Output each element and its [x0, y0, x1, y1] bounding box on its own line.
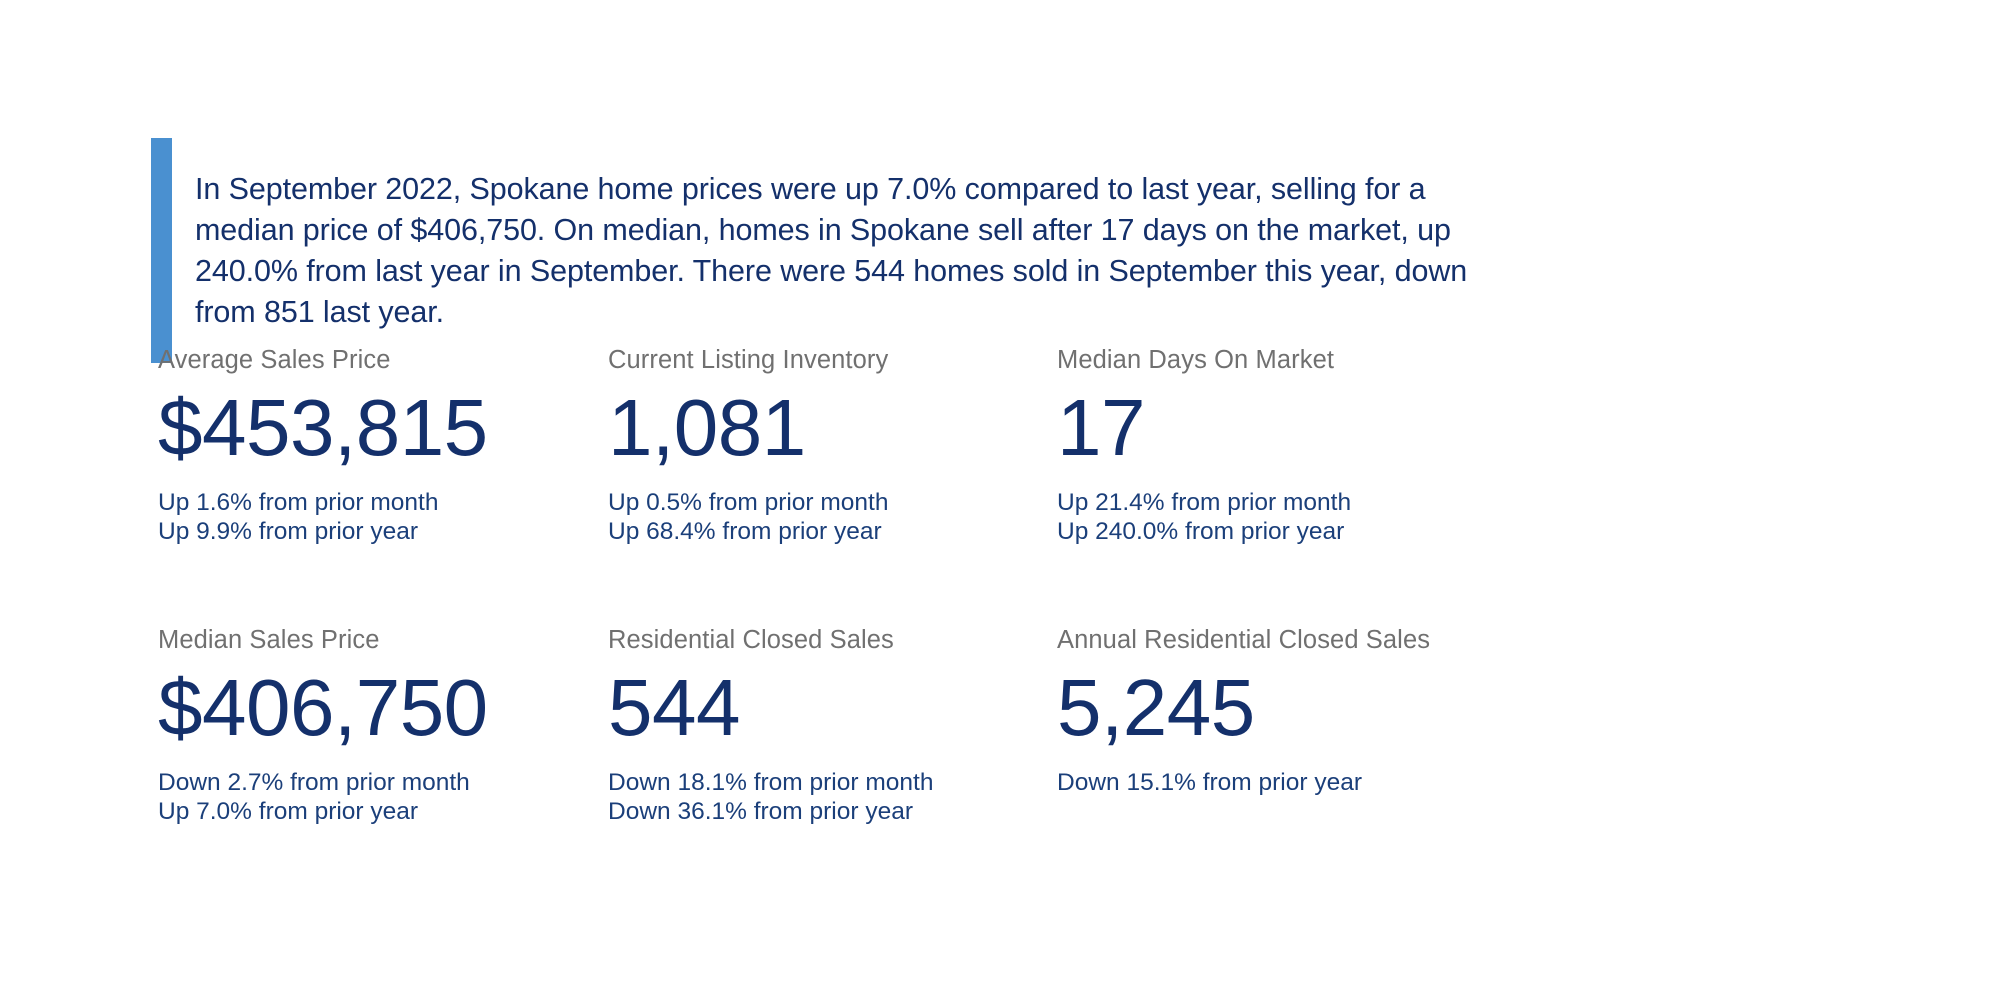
stat-deltas: Down 15.1% from prior year [1057, 769, 1468, 798]
stat-delta-year: Up 9.9% from prior year [158, 518, 628, 547]
stat-row: Median Sales Price $406,750 Down 2.7% fr… [158, 625, 1468, 905]
stat-block-residential-closed-sales: Residential Closed Sales 544 Down 18.1% … [608, 625, 1078, 826]
stat-row: Average Sales Price $453,815 Up 1.6% fro… [158, 345, 1468, 625]
stat-value: 544 [608, 661, 1078, 755]
stat-delta-month: Up 21.4% from prior month [1057, 489, 1468, 518]
summary-paragraph: In September 2022, Spokane home prices w… [195, 169, 1471, 333]
stat-delta-month: Down 18.1% from prior month [608, 769, 1078, 798]
stat-block-current-listing-inventory: Current Listing Inventory 1,081 Up 0.5% … [608, 345, 1078, 546]
stat-block-median-sales-price: Median Sales Price $406,750 Down 2.7% fr… [158, 625, 628, 826]
stat-deltas: Down 18.1% from prior month Down 36.1% f… [608, 769, 1078, 826]
stat-label: Average Sales Price [158, 345, 628, 375]
stat-delta-year: Down 15.1% from prior year [1057, 769, 1468, 798]
stat-deltas: Up 1.6% from prior month Up 9.9% from pr… [158, 489, 628, 546]
stat-delta-month: Up 0.5% from prior month [608, 489, 1078, 518]
stat-delta-month: Up 1.6% from prior month [158, 489, 628, 518]
stat-delta-year: Up 7.0% from prior year [158, 798, 628, 827]
stat-delta-year: Down 36.1% from prior year [608, 798, 1078, 827]
stat-value: $453,815 [158, 381, 628, 475]
stats-grid: Average Sales Price $453,815 Up 1.6% fro… [158, 345, 1468, 905]
stat-block-average-sales-price: Average Sales Price $453,815 Up 1.6% fro… [158, 345, 628, 546]
stat-label: Annual Residential Closed Sales [1057, 625, 1468, 655]
stat-label: Median Days On Market [1057, 345, 1468, 375]
stat-block-annual-residential-closed-sales: Annual Residential Closed Sales 5,245 Do… [1057, 625, 1468, 798]
accent-bar [151, 138, 172, 363]
stat-label: Median Sales Price [158, 625, 628, 655]
stat-delta-year: Up 68.4% from prior year [608, 518, 1078, 547]
stat-value: 17 [1057, 381, 1468, 475]
stat-value: 1,081 [608, 381, 1078, 475]
stat-delta-month: Down 2.7% from prior month [158, 769, 628, 798]
stat-label: Residential Closed Sales [608, 625, 1078, 655]
stat-value: $406,750 [158, 661, 628, 755]
stat-value: 5,245 [1057, 661, 1468, 755]
stat-deltas: Up 0.5% from prior month Up 68.4% from p… [608, 489, 1078, 546]
summary-callout: In September 2022, Spokane home prices w… [151, 138, 1471, 363]
stat-delta-year: Up 240.0% from prior year [1057, 518, 1468, 547]
stat-label: Current Listing Inventory [608, 345, 1078, 375]
stat-deltas: Up 21.4% from prior month Up 240.0% from… [1057, 489, 1468, 546]
stat-block-median-days-on-market: Median Days On Market 17 Up 21.4% from p… [1057, 345, 1468, 546]
market-report-canvas: In September 2022, Spokane home prices w… [0, 0, 2000, 1000]
stat-deltas: Down 2.7% from prior month Up 7.0% from … [158, 769, 628, 826]
